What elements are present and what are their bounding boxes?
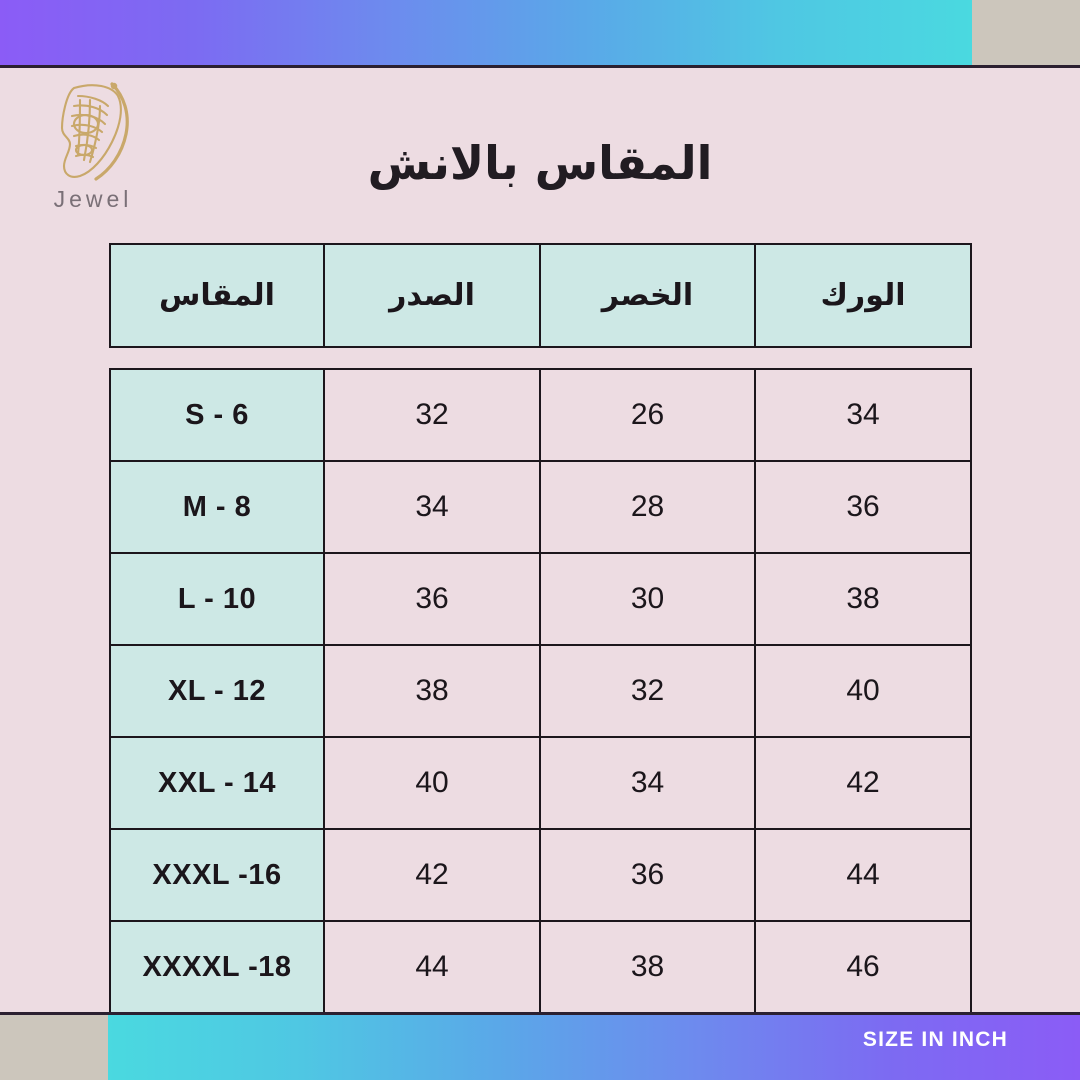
cell-size: XXXL -16	[110, 829, 324, 921]
cell-chest: 44	[324, 921, 540, 1013]
cell-waist: 28	[540, 461, 755, 553]
cell-hip: 42	[755, 737, 971, 829]
top-gradient-banner	[0, 0, 972, 65]
size-chart-page: Jewel المقاس بالانش المقاس الصدر الخصر ا…	[0, 0, 1080, 1080]
size-table-header: المقاس الصدر الخصر الورك	[109, 243, 972, 348]
unit-caption: SIZE IN INCH	[863, 1028, 1008, 1052]
column-header-hip: الورك	[755, 244, 971, 347]
column-header-size: المقاس	[110, 244, 324, 347]
cell-chest: 40	[324, 737, 540, 829]
page-title: المقاس بالانش	[0, 136, 1080, 190]
cell-hip: 34	[755, 369, 971, 461]
table-row: S - 6 32 26 34	[110, 369, 971, 461]
column-header-waist: الخصر	[540, 244, 755, 347]
cell-waist: 26	[540, 369, 755, 461]
brand-name: Jewel	[38, 186, 148, 213]
cell-size: S - 6	[110, 369, 324, 461]
cell-hip: 40	[755, 645, 971, 737]
table-row: XXL - 14 40 34 42	[110, 737, 971, 829]
cell-waist: 36	[540, 829, 755, 921]
table-row: XL - 12 38 32 40	[110, 645, 971, 737]
cell-chest: 32	[324, 369, 540, 461]
cell-chest: 34	[324, 461, 540, 553]
cell-waist: 32	[540, 645, 755, 737]
cell-size: XXL - 14	[110, 737, 324, 829]
table-row: XXXL -16 42 36 44	[110, 829, 971, 921]
cell-chest: 36	[324, 553, 540, 645]
cell-hip: 38	[755, 553, 971, 645]
cell-waist: 34	[540, 737, 755, 829]
column-header-chest: الصدر	[324, 244, 540, 347]
table-header-row: المقاس الصدر الخصر الورك	[110, 244, 971, 347]
size-table-body: S - 6 32 26 34 M - 8 34 28 36 L - 10 36 …	[109, 368, 972, 1014]
cell-hip: 44	[755, 829, 971, 921]
cell-waist: 30	[540, 553, 755, 645]
table-row: XXXXL -18 44 38 46	[110, 921, 971, 1013]
cell-size: L - 10	[110, 553, 324, 645]
table-row: M - 8 34 28 36	[110, 461, 971, 553]
cell-size: XL - 12	[110, 645, 324, 737]
cell-hip: 36	[755, 461, 971, 553]
cell-hip: 46	[755, 921, 971, 1013]
cell-chest: 38	[324, 645, 540, 737]
cell-size: XXXXL -18	[110, 921, 324, 1013]
cell-size: M - 8	[110, 461, 324, 553]
cell-chest: 42	[324, 829, 540, 921]
cell-waist: 38	[540, 921, 755, 1013]
table-row: L - 10 36 30 38	[110, 553, 971, 645]
